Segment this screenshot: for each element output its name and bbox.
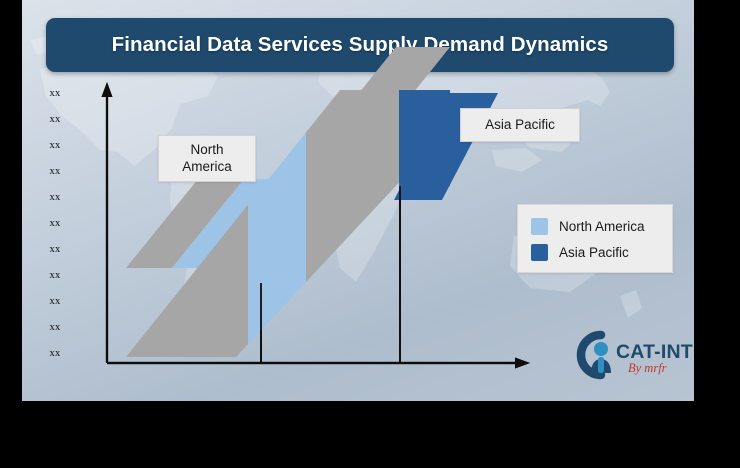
callout-north-america: North America (158, 135, 256, 182)
callout-asia-pacific-label: Asia Pacific (485, 117, 555, 133)
legend-label-north-america: North America (559, 219, 645, 234)
band-asia-pacific-block (399, 90, 450, 186)
band-fill-north-america (248, 60, 306, 380)
y-tick-10: xx (42, 348, 68, 359)
x-axis-arrow-top (515, 358, 530, 369)
legend-item-asia-pacific: Asia Pacific (531, 239, 672, 265)
y-tick-6: xx (42, 244, 68, 255)
legend-swatch-north-america (531, 218, 548, 235)
y-tick-3: xx (42, 166, 68, 177)
y-axis-arrow-top (102, 82, 113, 97)
band-fill-grey-left (126, 60, 248, 380)
y-tick-4: xx (42, 192, 68, 203)
band-fill-grey-right (306, 60, 399, 380)
chart-legend: North America Asia Pacific (517, 204, 673, 273)
screenshot-canvas: Financial Data Services Supply Demand Dy… (0, 0, 740, 468)
logo-tagline: By mrfr (628, 361, 667, 376)
y-tick-1: xx (42, 114, 68, 125)
slide: Financial Data Services Supply Demand Dy… (22, 0, 694, 401)
y-tick-7: xx (42, 270, 68, 281)
y-tick-0: xx (42, 88, 68, 99)
legend-item-north-america: North America (531, 213, 672, 239)
callout-north-america-line2: America (182, 159, 232, 174)
legend-label-asia-pacific: Asia Pacific (559, 245, 629, 260)
y-tick-8: xx (42, 296, 68, 307)
y-tick-2: xx (42, 140, 68, 151)
callout-asia-pacific: Asia Pacific (460, 108, 580, 142)
y-tick-9: xx (42, 322, 68, 333)
callout-north-america-line1: North (190, 142, 223, 157)
legend-swatch-asia-pacific (531, 244, 548, 261)
y-tick-5: xx (42, 218, 68, 229)
brand-logo: CAT-INTEL By mrfr (571, 329, 694, 385)
